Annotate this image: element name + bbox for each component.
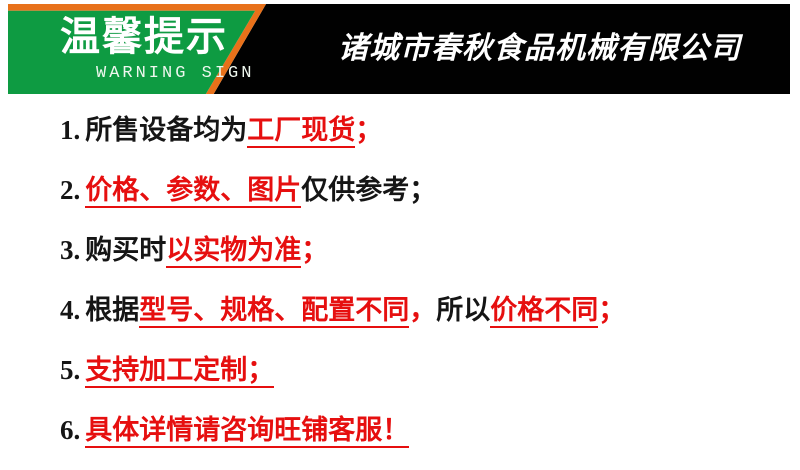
notice-segment: 仅供参考； [301, 175, 436, 205]
notice-segment: 具体详情请咨询旺铺客服！ [85, 415, 409, 448]
company-name: 诸城市春秋食品机械有限公司 [338, 30, 741, 68]
notice-item: 6.具体详情请咨询旺铺客服！ [0, 400, 800, 460]
notice-item-index: 6. [60, 413, 80, 447]
notice-segment: ； [355, 115, 382, 145]
notice-segment: 根据 [85, 295, 139, 325]
notice-item: 4.根据型号、规格、配置不同，所以价格不同； [0, 280, 800, 340]
notice-item: 1.所售设备均为工厂现货； [0, 100, 800, 160]
notice-item-text: 根据型号、规格、配置不同，所以价格不同； [85, 293, 625, 327]
notice-segment: 所以 [436, 295, 490, 325]
notice-segment: 购买时 [85, 235, 166, 265]
banner-title: 温馨提示 [60, 14, 228, 60]
notice-item-text: 所售设备均为工厂现货； [85, 113, 382, 147]
notice-segment: 价格、参数、图片 [85, 175, 301, 208]
warning-notice-page: 温馨提示 WARNING SIGN 诸城市春秋食品机械有限公司 1.所售设备均为… [0, 0, 800, 470]
notice-segment: 工厂现货 [247, 115, 355, 148]
notice-segment: ； [598, 295, 625, 325]
notice-item-index: 2. [60, 173, 80, 207]
notice-segment: 型号、规格、配置不同 [139, 295, 409, 328]
notice-item: 2.价格、参数、图片仅供参考； [0, 160, 800, 220]
notice-item: 3.购买时以实物为准； [0, 220, 800, 280]
notice-item-text: 支持加工定制； [85, 353, 274, 387]
notice-item-index: 5. [60, 353, 80, 387]
notice-segment: 支持加工定制； [85, 355, 274, 388]
notice-item-index: 4. [60, 293, 80, 327]
notice-segment: 以实物为准 [166, 235, 301, 268]
notice-segment: 所售设备均为 [85, 115, 247, 145]
banner-subtitle: WARNING SIGN [96, 64, 254, 84]
notice-list: 1.所售设备均为工厂现货；2.价格、参数、图片仅供参考；3.购买时以实物为准；4… [0, 100, 800, 460]
notice-segment: 价格不同 [490, 295, 598, 328]
notice-item-index: 1. [60, 113, 80, 147]
notice-item-text: 价格、参数、图片仅供参考； [85, 173, 436, 207]
notice-segment: ； [301, 235, 328, 265]
notice-item: 5.支持加工定制； [0, 340, 800, 400]
header-banner: 温馨提示 WARNING SIGN 诸城市春秋食品机械有限公司 [8, 4, 790, 94]
notice-item-text: 具体详情请咨询旺铺客服！ [85, 413, 409, 447]
notice-item-text: 购买时以实物为准； [85, 233, 328, 267]
notice-item-index: 3. [60, 233, 80, 267]
notice-segment: ， [409, 295, 436, 325]
